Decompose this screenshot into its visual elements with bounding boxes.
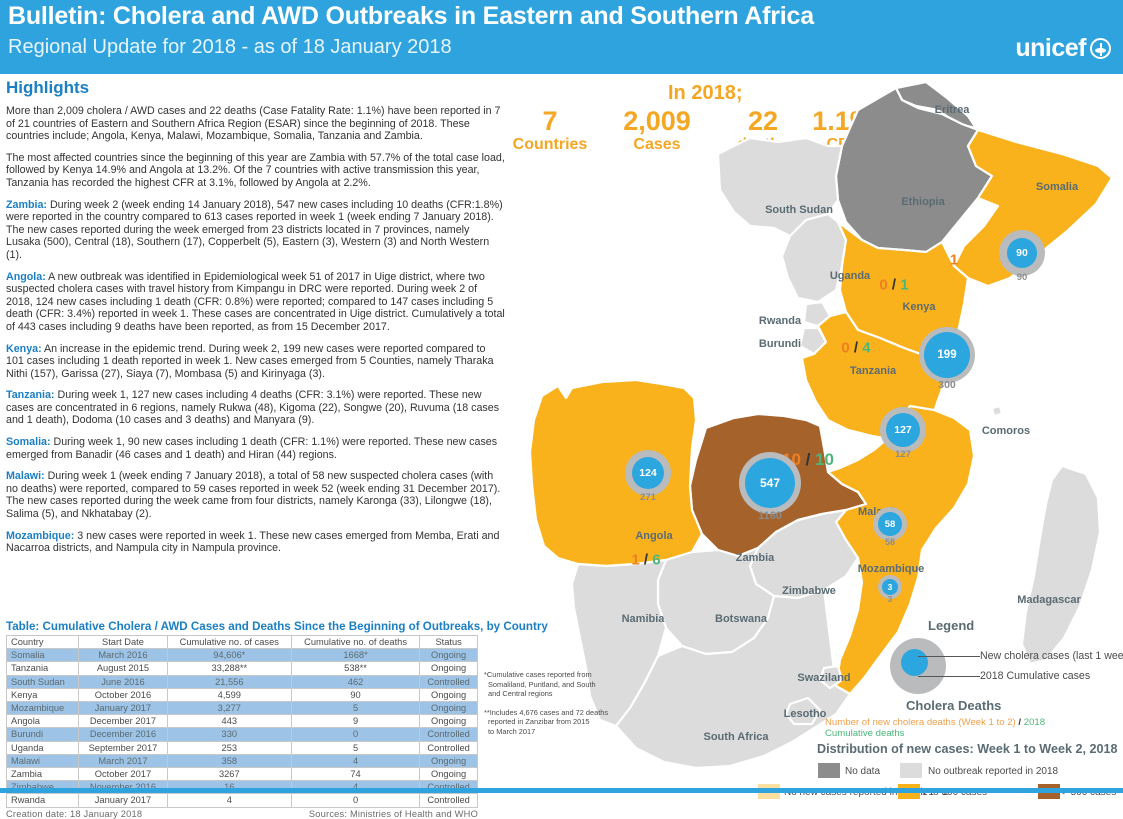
unicef-logo: unicef <box>1015 34 1111 63</box>
death-ratio-cumulative: 4 <box>862 340 870 357</box>
table-cell-deaths: 74 <box>291 768 419 781</box>
map-label-zimbabwe: Zimbabwe <box>782 585 836 597</box>
sources-label: Sources: Ministries of Health and WHO <box>309 809 478 819</box>
table-cell-cases: 358 <box>167 754 291 767</box>
table-row: ZambiaOctober 2017326774Ongoing <box>7 768 478 781</box>
map-bubble-angola: 124271 <box>625 450 671 510</box>
map-label-eritrea: Eritrea <box>935 104 970 116</box>
table-cell-start: March 2017 <box>79 754 168 767</box>
table-cell-deaths: 538** <box>291 662 419 675</box>
highlights-paragraphs: More than 2,009 cholera / AWD cases and … <box>6 105 506 555</box>
table-col-header: Cumulative no. of cases <box>167 636 291 649</box>
footnote-one-line2: Somaliland, Puntland, and South <box>484 680 624 690</box>
map-label-kenya: Kenya <box>902 301 935 313</box>
bubble-cumulative-value: 90 <box>1017 272 1028 283</box>
highlight-paragraph: Angola: A new outbreak was identified in… <box>6 271 506 334</box>
page-title: Bulletin: Cholera and AWD Outbreaks in E… <box>8 2 814 31</box>
table-cell-deaths: 4 <box>291 754 419 767</box>
page-header: Bulletin: Cholera and AWD Outbreaks in E… <box>0 0 1123 74</box>
table-cell-deaths: 9 <box>291 715 419 728</box>
table-cell-start: June 2016 <box>79 675 168 688</box>
legend-bubble-sample <box>890 638 946 694</box>
bubble-new-cases-value: 58 <box>878 512 902 536</box>
highlight-paragraph: Somalia: During week 1, 90 new cases inc… <box>6 436 506 461</box>
table-cell-start: September 2017 <box>79 741 168 754</box>
unicef-emblem-icon <box>1090 38 1111 59</box>
table-cell-country: Uganda <box>7 741 79 754</box>
table-cell-status: Ongoing <box>420 649 478 662</box>
map-label-comoros: Comoros <box>982 425 1030 437</box>
creation-date: Creation date: 18 January 2018 <box>6 809 142 819</box>
map-label-uganda: Uganda <box>830 270 870 282</box>
table-cell-country: Kenya <box>7 688 79 701</box>
table-cell-start: December 2017 <box>79 715 168 728</box>
table-cell-country: Somalia <box>7 649 79 662</box>
map-bubble-mozambique: 33 <box>878 575 902 613</box>
map-bubble-zambia: 5471160 <box>739 452 801 528</box>
bubble-new-cases-value: 199 <box>924 332 970 378</box>
death-ratio-separator: / <box>888 277 901 294</box>
table-cell-cases: 21,556 <box>167 675 291 688</box>
table-cell-country: Zambia <box>7 768 79 781</box>
table-row: AngolaDecember 20174439Ongoing <box>7 715 478 728</box>
map-bubble-malawi: 5858 <box>873 507 907 555</box>
map-label-ethiopia: Ethiopia <box>901 196 944 208</box>
death-ratio-separator: / <box>640 552 653 569</box>
highlight-country-label: Angola: <box>6 271 46 283</box>
table-cell-deaths: 90 <box>291 688 419 701</box>
death-ratio-new: 1 <box>950 252 958 269</box>
death-ratio-cumulative: 1 <box>900 277 908 294</box>
map-label-botswana: Botswana <box>715 613 767 625</box>
bubble-new-cases-value: 124 <box>632 457 664 489</box>
legend-swatch-no-outbreak <box>900 763 922 778</box>
highlight-paragraph-text: The most affected countries since the be… <box>6 152 505 189</box>
map-label-south-africa: South Africa <box>704 731 769 743</box>
table-cell-status: Ongoing <box>420 702 478 715</box>
table-row: UgandaSeptember 20172535Controlled <box>7 741 478 754</box>
highlight-paragraph: More than 2,009 cholera / AWD cases and … <box>6 105 506 143</box>
highlight-paragraph-text: During week 1 (week ending 7 January 201… <box>6 470 500 520</box>
legend-swatch-no-data <box>818 763 840 778</box>
table-cell-country: Tanzania <box>7 662 79 675</box>
highlight-paragraph: Malawi: During week 1 (week ending 7 Jan… <box>6 470 506 520</box>
map-label-angola: Angola <box>635 530 672 542</box>
map-label-namibia: Namibia <box>622 613 665 625</box>
unicef-wordmark: unicef <box>1015 34 1086 63</box>
table-cell-status: Ongoing <box>420 768 478 781</box>
table-cell-deaths: 0 <box>291 794 419 807</box>
table-cell-start: March 2016 <box>79 649 168 662</box>
table-cell-cases: 94,606* <box>167 649 291 662</box>
map-label-swaziland: Swaziland <box>797 672 850 684</box>
footnote-two-line3: to March 2017 <box>484 727 624 737</box>
highlight-paragraph: Zambia: During week 2 (week ending 14 Ja… <box>6 199 506 262</box>
highlight-paragraph: Tanzania: During week 1, 127 new cases i… <box>6 389 506 427</box>
map-label-zambia: Zambia <box>736 552 775 564</box>
highlight-paragraph-text: More than 2,009 cholera / AWD cases and … <box>6 105 500 142</box>
death-ratio-cumulative: 10 <box>815 450 834 469</box>
table-cell-country: Burundi <box>7 728 79 741</box>
map-death-ratio-kenya: 0 / 1 <box>879 277 908 294</box>
map-death-ratio-tanzania: 0 / 4 <box>841 340 870 357</box>
legend-deaths-key: Number of new cholera deaths (Week 1 to … <box>825 717 1085 739</box>
table-cell-status: Ongoing <box>420 688 478 701</box>
map-label-lesotho: Lesotho <box>784 708 827 720</box>
highlight-paragraph-text: An increase in the epidemic trend. Durin… <box>6 343 494 380</box>
legend-leader-line-cum <box>918 676 980 677</box>
bubble-new-cases-value: 127 <box>886 413 920 447</box>
table-cell-start: January 2017 <box>79 702 168 715</box>
map-bubble-somalia: 9090 <box>999 230 1045 290</box>
legend-cholera-deaths-header: Cholera Deaths <box>906 698 1001 713</box>
table-cell-cases: 33,288** <box>167 662 291 675</box>
highlight-paragraph-text: During week 1, 90 new cases including 1 … <box>6 436 497 461</box>
bubble-cumulative-value: 300 <box>938 379 956 391</box>
table-row: MozambiqueJanuary 20173,2775Ongoing <box>7 702 478 715</box>
table-cell-status: Ongoing <box>420 715 478 728</box>
highlight-country-label: Kenya: <box>6 343 42 355</box>
map-country-madagascar <box>1022 466 1100 664</box>
bubble-new-cases-value: 547 <box>745 458 795 508</box>
table-cell-status: Controlled <box>420 741 478 754</box>
table-cell-country: Malawi <box>7 754 79 767</box>
table-cell-cases: 253 <box>167 741 291 754</box>
map-country-comoros <box>992 406 1002 416</box>
footnote-one: *Cumulative cases reported from Somalila… <box>484 670 624 699</box>
legend-deaths-separator: / <box>1018 717 1021 728</box>
map-label-somalia: Somalia <box>1036 181 1078 193</box>
legend-new-cases-label: New cholera cases (last 1 week) <box>980 650 1123 662</box>
legend-title: Legend <box>928 618 974 633</box>
cumulative-cases-table: CountryStart DateCumulative no. of cases… <box>6 635 478 808</box>
bubble-cumulative-value: 1160 <box>758 510 782 522</box>
table-cell-country: Rwanda <box>7 794 79 807</box>
highlight-country-label: Zambia: <box>6 199 47 211</box>
highlight-paragraph-text: During week 1, 127 new cases including 4… <box>6 389 499 426</box>
highlight-country-label: Tanzania: <box>6 389 55 401</box>
map-country-angola <box>530 380 702 566</box>
table-cell-start: October 2016 <box>79 688 168 701</box>
highlight-paragraph-text: 3 new cases were reported in week 1. The… <box>6 530 499 555</box>
table-cell-deaths: 0 <box>291 728 419 741</box>
table-cell-country: Mozambique <box>7 702 79 715</box>
bubble-cumulative-value: 3 <box>888 595 892 604</box>
table-cell-deaths: 462 <box>291 675 419 688</box>
table-cell-start: August 2015 <box>79 662 168 675</box>
table-cell-deaths: 5 <box>291 741 419 754</box>
table-title: Table: Cumulative Cholera / AWD Cases an… <box>6 620 506 633</box>
table-col-header: Start Date <box>79 636 168 649</box>
table-cell-cases: 3,277 <box>167 702 291 715</box>
bubble-cumulative-value: 127 <box>895 449 911 460</box>
table-cell-start: January 2017 <box>79 794 168 807</box>
table-cell-cases: 330 <box>167 728 291 741</box>
page-subtitle: Regional Update for 2018 - as of 18 Janu… <box>8 36 452 59</box>
table-cell-status: Ongoing <box>420 754 478 767</box>
highlight-paragraph: The most affected countries since the be… <box>6 152 506 190</box>
legend-deaths-new-label: Number of new cholera deaths (Week 1 to … <box>825 717 1016 728</box>
table-footer: Creation date: 18 January 2018 Sources: … <box>6 809 478 819</box>
map-label-mozambique: Mozambique <box>858 563 925 575</box>
table-cell-deaths: 1668* <box>291 649 419 662</box>
death-ratio-separator: / <box>850 340 863 357</box>
footnote-one-line1: *Cumulative cases reported from <box>484 670 592 679</box>
highlight-country-label: Mozambique: <box>6 530 74 542</box>
table-row: SomaliaMarch 201694,606*1668*Ongoing <box>7 649 478 662</box>
table-cell-cases: 4,599 <box>167 688 291 701</box>
highlight-country-label: Somalia: <box>6 436 51 448</box>
bubble-new-cases-value: 90 <box>1007 238 1037 268</box>
footnote-two-line1: **Includes 4,676 cases and 72 deaths <box>484 708 608 717</box>
highlights-section: Highlights More than 2,009 cholera / AWD… <box>6 78 506 564</box>
legend-label-no-data: No data <box>845 766 880 777</box>
table-cell-status: Controlled <box>420 794 478 807</box>
map-death-ratio-somalia: 1 <box>950 252 958 269</box>
map-label-tanzania: Tanzania <box>850 365 896 377</box>
footnote-two-line2: reported in Zanzibar from 2015 <box>484 717 624 727</box>
table-cell-status: Controlled <box>420 675 478 688</box>
table-row: BurundiDecember 20163300Controlled <box>7 728 478 741</box>
footer-bar <box>0 788 1123 793</box>
bulletin-page: Bulletin: Cholera and AWD Outbreaks in E… <box>0 0 1123 793</box>
highlight-paragraph: Mozambique: 3 new cases were reported in… <box>6 530 506 555</box>
table-body: SomaliaMarch 201694,606*1668*OngoingTanz… <box>7 649 478 807</box>
highlight-country-label: Malawi: <box>6 470 45 482</box>
table-col-header: Status <box>420 636 478 649</box>
bubble-cumulative-value: 271 <box>640 492 656 503</box>
legend-label-no-outbreak: No outbreak reported in 2018 <box>928 766 1058 777</box>
death-ratio-separator: / <box>801 450 815 469</box>
table-cell-status: Ongoing <box>420 662 478 675</box>
table-cell-cases: 443 <box>167 715 291 728</box>
legend-new-cases-circle <box>901 649 928 676</box>
legend-distribution-title: Distribution of new cases: Week 1 to Wee… <box>817 742 1118 756</box>
table-cell-cases: 3267 <box>167 768 291 781</box>
footnote-two: **Includes 4,676 cases and 72 deaths rep… <box>484 708 624 737</box>
table-cell-cases: 4 <box>167 794 291 807</box>
table-cell-deaths: 5 <box>291 702 419 715</box>
table-header-row: CountryStart DateCumulative no. of cases… <box>7 636 478 649</box>
death-ratio-cumulative: 6 <box>652 552 660 569</box>
table-cell-country: Angola <box>7 715 79 728</box>
bubble-new-cases-value: 3 <box>882 579 898 595</box>
table-footnotes: *Cumulative cases reported from Somalila… <box>484 670 624 746</box>
legend-leader-line-new <box>918 656 980 657</box>
table-col-header: Cumulative no. of deaths <box>291 636 419 649</box>
table-col-header: Country <box>7 636 79 649</box>
table-cell-start: October 2017 <box>79 768 168 781</box>
table-cell-country: South Sudan <box>7 675 79 688</box>
highlight-paragraph-text: A new outbreak was identified in Epidemi… <box>6 271 505 333</box>
table-row: KenyaOctober 20164,59990Ongoing <box>7 688 478 701</box>
table-row: RwandaJanuary 201740Controlled <box>7 794 478 807</box>
map-death-ratio-angola: 1 / 6 <box>631 552 660 569</box>
highlights-title: Highlights <box>6 78 506 98</box>
highlight-paragraph: Kenya: An increase in the epidemic trend… <box>6 343 506 381</box>
table-row: TanzaniaAugust 201533,288**538**Ongoing <box>7 662 478 675</box>
table-row: South SudanJune 201621,556462Controlled <box>7 675 478 688</box>
footnote-one-line3: and Central regions <box>484 689 624 699</box>
map-label-burundi: Burundi <box>759 338 801 350</box>
bubble-cumulative-value: 58 <box>885 537 895 547</box>
map-label-south-sudan: South Sudan <box>765 204 833 216</box>
table-row: MalawiMarch 20173584Ongoing <box>7 754 478 767</box>
map-bubble-tanzania: 127127 <box>880 407 926 467</box>
highlight-paragraph-text: During week 2 (week ending 14 January 20… <box>6 199 503 261</box>
table-cell-status: Controlled <box>420 728 478 741</box>
map-label-madagascar: Madagascar <box>1017 594 1081 606</box>
map-bubble-kenya: 199300 <box>919 327 975 397</box>
table-cell-start: December 2016 <box>79 728 168 741</box>
map-label-rwanda: Rwanda <box>759 315 801 327</box>
legend-cumulative-label: 2018 Cumulative cases <box>980 670 1090 682</box>
